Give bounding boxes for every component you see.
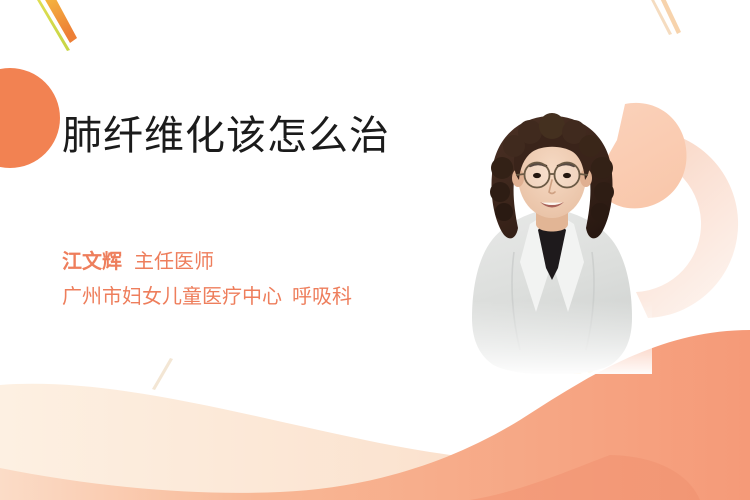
page-title: 肺纤维化该怎么治 [62,110,442,162]
stripe-green-topleft [30,0,70,51]
doctor-department: 呼吸科 [292,286,352,308]
stripe-tan-topright-b [658,0,681,34]
wave-cream-bottom [0,384,750,500]
doctor-name: 江文辉 [62,251,122,273]
stripe-tan-topright-a [648,0,672,35]
circle-orange-decoration [0,68,60,168]
photo-bottom-fade [452,112,652,374]
doctor-hospital: 广州市妇女儿童医疗中心 [62,286,282,308]
doctor-photo [452,112,652,374]
doctor-professional-title: 主任医师 [134,251,214,273]
doctor-credential-line: 江文辉主任医师 [62,246,442,279]
doctor-video-cover-card: 肺纤维化该怎么治 江文辉主任医师 广州市妇女儿童医疗中心呼吸科 [0,0,750,500]
doctor-portrait-illustration [452,112,652,374]
stripe-orange-topleft [37,0,77,43]
doctor-affiliation-line: 广州市妇女儿童医疗中心呼吸科 [62,281,442,314]
stripe-beige-bottomleft [152,358,173,390]
text-block: 肺纤维化该怎么治 江文辉主任医师 广州市妇女儿童医疗中心呼吸科 [62,110,442,314]
wave-salmon-inner-lobe [470,455,700,500]
